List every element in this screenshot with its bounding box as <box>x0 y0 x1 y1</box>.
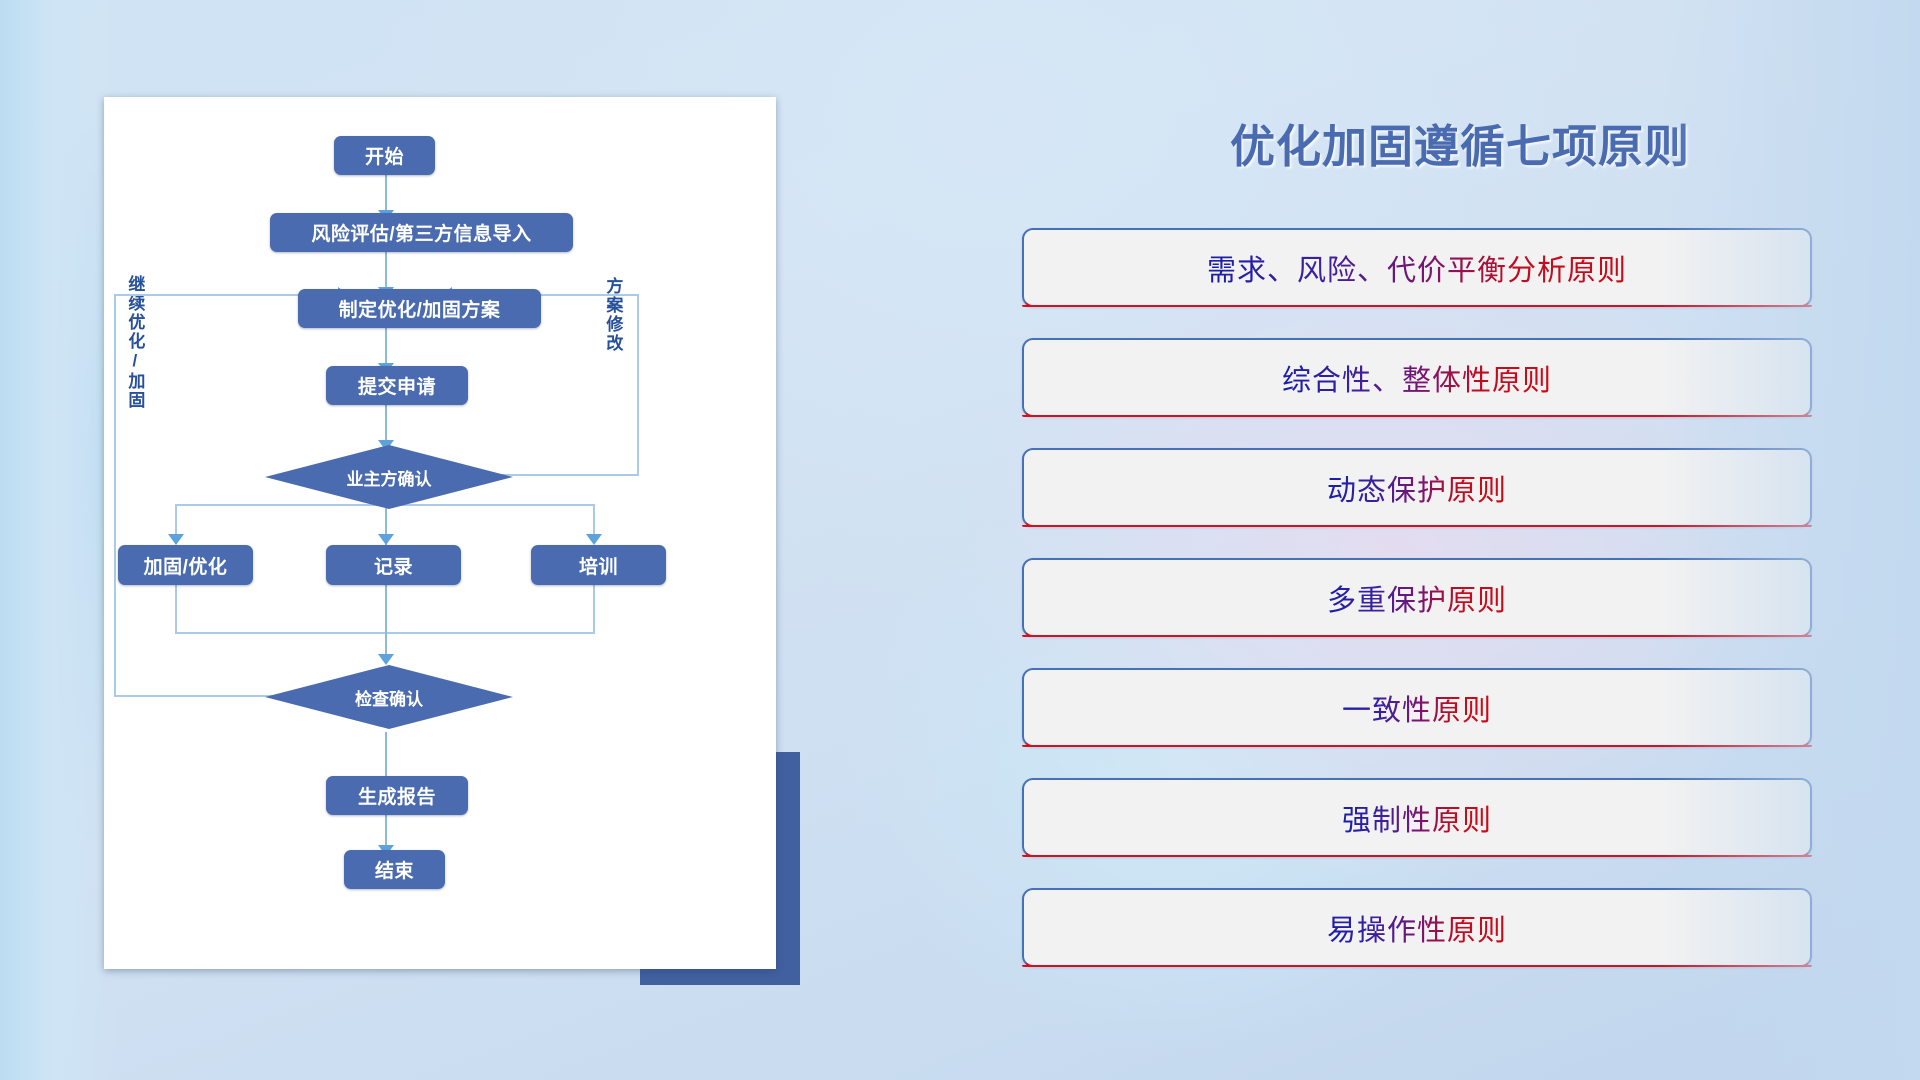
connector-record-check <box>385 584 387 659</box>
node-owner-confirm[interactable]: 业主方确认 <box>265 445 513 509</box>
principle-item-5[interactable]: 一致性原则 <box>1022 668 1812 747</box>
principle-label: 综合性、整体性原则 <box>1282 357 1552 399</box>
node-end[interactable]: 结束 <box>344 850 445 889</box>
arrowhead-bus-train <box>586 534 602 545</box>
node-training[interactable]: 培训 <box>531 545 666 585</box>
principle-item-2[interactable]: 综合性、整体性原则 <box>1022 338 1812 417</box>
connector-start-risk <box>385 174 387 214</box>
node-submit-application[interactable]: 提交申请 <box>326 366 468 405</box>
principle-item-1[interactable]: 需求、风险、代价平衡分析原则 <box>1022 228 1812 307</box>
node-generate-report[interactable]: 生成报告 <box>326 776 468 815</box>
connector-report-end <box>385 815 387 849</box>
node-record[interactable]: 记录 <box>326 545 461 585</box>
principles-panel: 优化加固遵循七项原则 需求、风险、代价平衡分析原则 综合性、整体性原则 动态保护… <box>1000 0 1920 1080</box>
arrowhead-bus-reinforce <box>168 534 184 545</box>
node-risk-assessment[interactable]: 风险评估/第三方信息导入 <box>270 213 573 252</box>
connector-risk-plan <box>385 249 387 292</box>
connector-left-loop-riser <box>114 294 116 697</box>
flowchart-panel: 继续优化/加固 方案修改 <box>0 0 840 1080</box>
node-check-confirm[interactable]: 检查确认 <box>265 665 513 729</box>
principles-list: 需求、风险、代价平衡分析原则 综合性、整体性原则 动态保护原则 多重保护原则 一… <box>1022 228 1812 998</box>
principle-label: 一致性原则 <box>1342 687 1492 729</box>
principle-item-6[interactable]: 强制性原则 <box>1022 778 1812 857</box>
edge-label-left: 继续优化/加固 <box>126 275 143 425</box>
principle-label: 动态保护原则 <box>1327 467 1507 509</box>
connector-reinforce-merge <box>175 584 177 634</box>
connector-train-merge <box>593 584 595 634</box>
principle-item-7[interactable]: 易操作性原则 <box>1022 888 1812 967</box>
node-reinforce-optimize[interactable]: 加固/优化 <box>118 545 253 585</box>
arrowhead-merge-check <box>378 654 394 665</box>
principle-label: 需求、风险、代价平衡分析原则 <box>1207 247 1627 289</box>
slide-background: 继续优化/加固 方案修改 <box>0 0 1920 1080</box>
node-plan[interactable]: 制定优化/加固方案 <box>298 289 541 328</box>
principle-label: 多重保护原则 <box>1327 577 1507 619</box>
connector-right-loop-riser <box>637 294 639 476</box>
connector-check-report <box>385 732 387 782</box>
principle-item-4[interactable]: 多重保护原则 <box>1022 558 1812 637</box>
flowchart-card: 继续优化/加固 方案修改 <box>104 97 776 969</box>
node-start[interactable]: 开始 <box>334 136 435 175</box>
principle-label: 易操作性原则 <box>1327 907 1507 949</box>
page-title: 优化加固遵循七项原则 <box>1000 110 1920 175</box>
principle-label: 强制性原则 <box>1342 797 1492 839</box>
principle-item-3[interactable]: 动态保护原则 <box>1022 448 1812 527</box>
arrowhead-bus-record <box>378 534 394 545</box>
